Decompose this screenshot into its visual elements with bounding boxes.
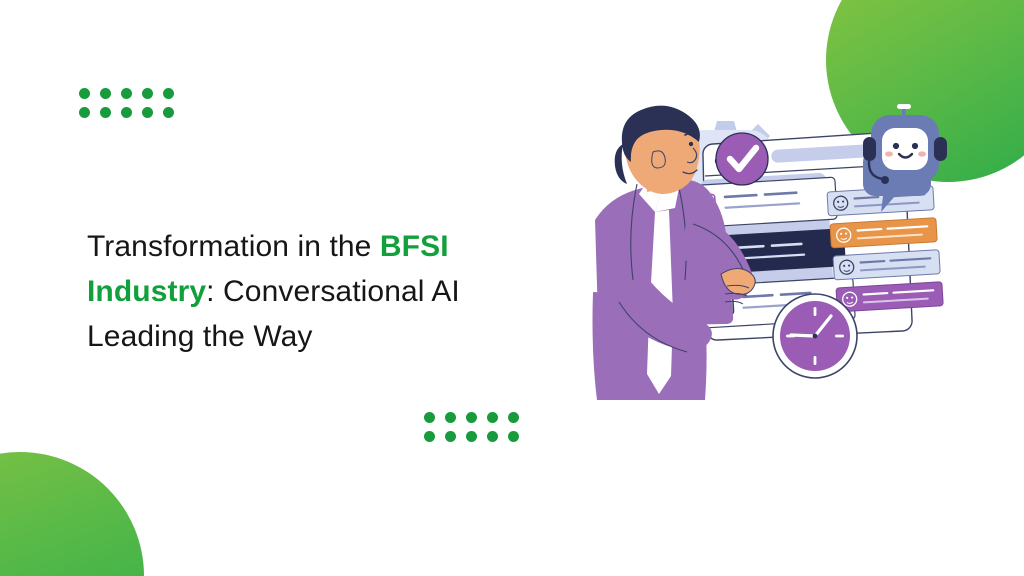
page-canvas: Transformation in the BFSI Industry: Con… xyxy=(0,0,1024,576)
user-avatar-icon xyxy=(833,196,848,211)
dot xyxy=(142,107,153,118)
user-avatar-icon xyxy=(839,260,854,275)
clock-icon xyxy=(773,294,857,378)
dot xyxy=(445,412,456,423)
dot xyxy=(121,107,132,118)
hero-illustration xyxy=(575,104,975,416)
dot xyxy=(487,412,498,423)
dot xyxy=(424,412,435,423)
dot xyxy=(466,431,477,442)
dot xyxy=(424,431,435,442)
check-circle-badge xyxy=(716,133,768,185)
dot xyxy=(100,88,111,99)
page-title: Transformation in the BFSI Industry: Con… xyxy=(87,224,527,359)
dot xyxy=(163,88,174,99)
dot-grid-top-left xyxy=(79,88,174,118)
dot xyxy=(487,431,498,442)
dot-grid-bottom-center xyxy=(424,412,519,442)
user-avatar-icon xyxy=(836,228,851,243)
dot xyxy=(466,412,477,423)
dot xyxy=(79,88,90,99)
chatbot-avatar-icon xyxy=(863,104,947,184)
dot xyxy=(142,88,153,99)
headline-part-1: Transformation in the xyxy=(87,230,380,263)
dot xyxy=(121,88,132,99)
decorative-green-circle-bottom-left xyxy=(0,452,144,576)
dot xyxy=(79,107,90,118)
dot xyxy=(508,431,519,442)
dot xyxy=(163,107,174,118)
dot xyxy=(100,107,111,118)
dot xyxy=(445,431,456,442)
user-avatar-icon xyxy=(842,292,857,307)
dot xyxy=(508,412,519,423)
